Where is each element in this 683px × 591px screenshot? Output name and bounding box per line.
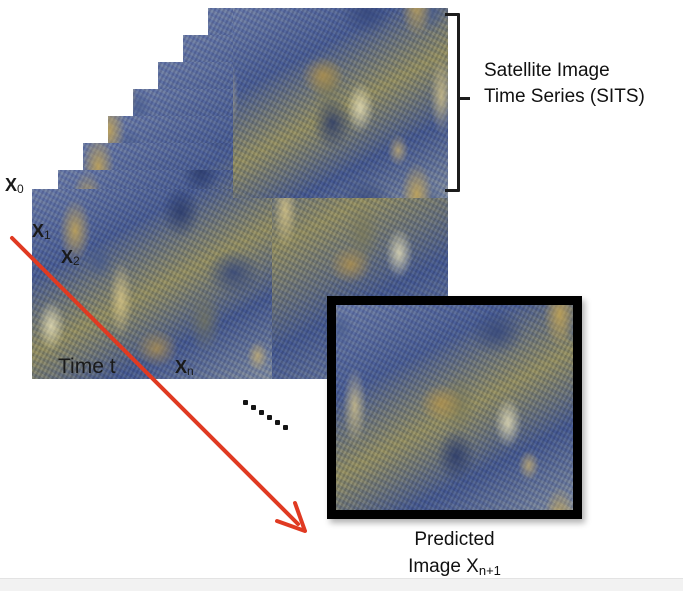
bracket-center-tick bbox=[460, 97, 470, 100]
predicted-caption-subscript: n+1 bbox=[479, 563, 501, 578]
predicted-image-caption: Predicted Image Xn+1 bbox=[327, 526, 582, 581]
sits-label: Satellite Image Time Series (SITS) bbox=[484, 58, 645, 110]
figure-canvas: X0 X1 X2 Xn Satellite Image Time Series … bbox=[0, 0, 683, 591]
bottom-band bbox=[0, 578, 683, 591]
predicted-caption-prefix: Image X bbox=[408, 556, 479, 577]
label-x2: X2 bbox=[61, 248, 80, 266]
predicted-image-texture bbox=[336, 305, 573, 510]
label-x1: X1 bbox=[32, 222, 51, 240]
time-axis-label: Time t bbox=[58, 355, 116, 379]
bracket-spine bbox=[457, 13, 460, 192]
predicted-caption-line2: Image Xn+1 bbox=[327, 553, 582, 581]
label-xn: Xn bbox=[175, 358, 194, 376]
predicted-image-frame bbox=[327, 296, 582, 519]
sits-stack-body-upper bbox=[233, 8, 448, 198]
sits-bracket bbox=[443, 10, 469, 192]
sits-label-line2: Time Series (SITS) bbox=[484, 84, 645, 110]
time-arrow-head bbox=[277, 503, 305, 531]
predicted-image-inner bbox=[336, 305, 573, 510]
label-x0: X0 bbox=[5, 176, 24, 194]
sits-frame-1 bbox=[32, 189, 272, 379]
ellipsis-dots bbox=[243, 400, 295, 434]
bracket-arm-bottom bbox=[445, 189, 459, 192]
sits-label-line1: Satellite Image bbox=[484, 58, 645, 84]
predicted-caption-line1: Predicted bbox=[327, 526, 582, 553]
